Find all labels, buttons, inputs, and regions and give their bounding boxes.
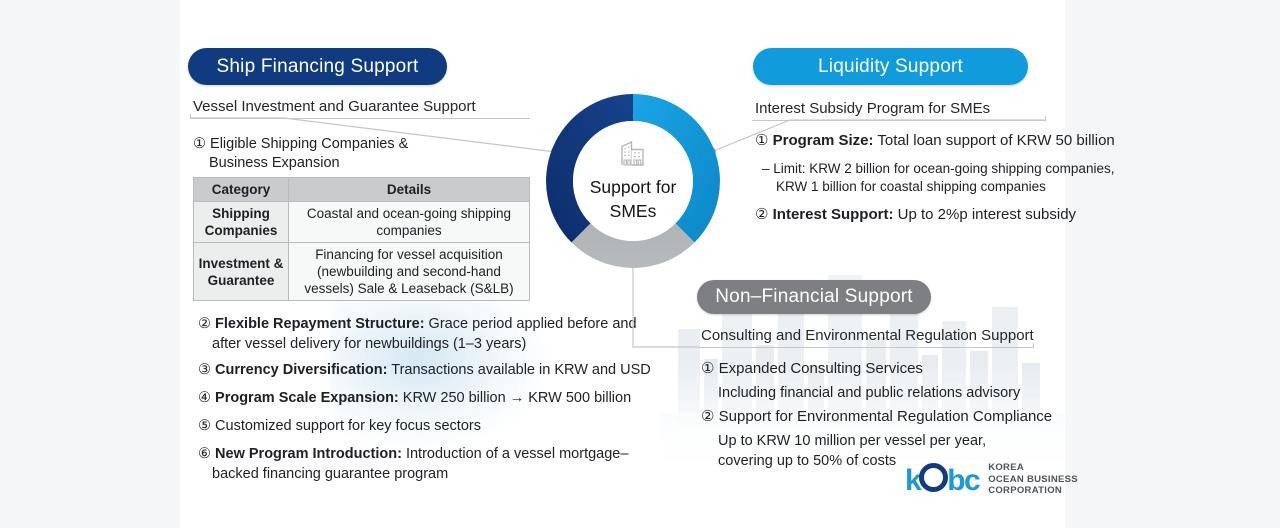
donut-center: Support for SMEs — [573, 121, 693, 241]
kobc-name: KOREA OCEAN BUSINESS CORPORATION — [988, 462, 1078, 497]
logo-name-line2: OCEAN BUSINESS — [988, 474, 1078, 486]
connector-liquidity — [711, 120, 1045, 152]
kobc-wordmark: kbc — [905, 463, 979, 496]
infographic-canvas: Ship Financing Support Vessel Investment… — [0, 0, 1280, 528]
connector-ship — [190, 118, 556, 152]
building-icon — [618, 140, 648, 171]
logo-name-line3: CORPORATION — [988, 485, 1078, 497]
donut-center-line2: SMEs — [610, 199, 657, 223]
logo-mark-right: bc — [947, 464, 979, 497]
donut-center-line1: Support for — [590, 175, 677, 199]
kobc-logo: kbc KOREA OCEAN BUSINESS CORPORATION — [905, 462, 1078, 497]
logo-mark-left: k — [905, 464, 920, 497]
logo-ring-icon — [919, 463, 948, 492]
logo-name-line1: KOREA — [988, 462, 1078, 474]
donut-chart: Support for SMEs — [540, 88, 726, 274]
